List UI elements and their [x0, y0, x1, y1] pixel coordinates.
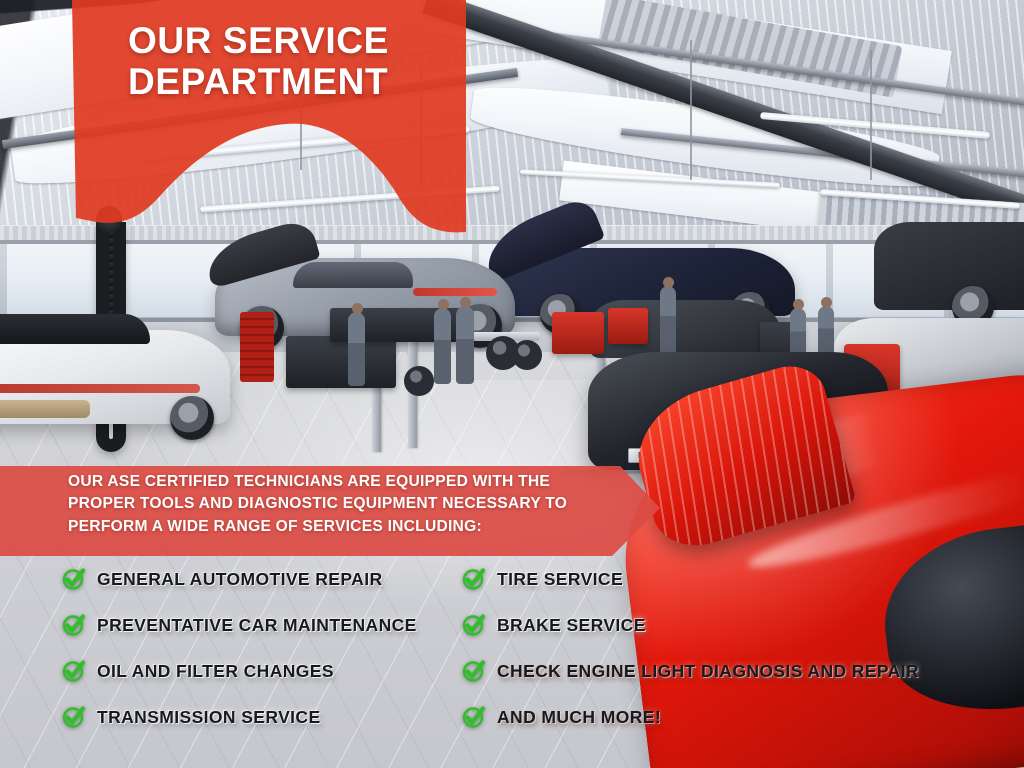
title-line-2: DEPARTMENT — [128, 61, 488, 102]
green-check-icon — [62, 567, 86, 591]
ceiling-hanger — [690, 40, 692, 180]
tire — [404, 366, 434, 396]
green-check-icon — [462, 659, 486, 683]
service-label: TIRE SERVICE — [497, 569, 623, 590]
technician — [456, 306, 474, 384]
service-item[interactable]: AND MUCH MORE! — [462, 694, 1002, 740]
service-label: OIL AND FILTER CHANGES — [97, 661, 334, 682]
hose-reel — [96, 206, 122, 232]
service-label: AND MUCH MORE! — [497, 707, 661, 728]
green-check-icon — [62, 659, 86, 683]
banner-description: OUR ASE CERTIFIED TECHNICIANS ARE EQUIPP… — [68, 471, 608, 538]
technician — [660, 286, 676, 358]
service-item[interactable]: BRAKE SERVICE — [462, 602, 1002, 648]
service-item[interactable]: CHECK ENGINE LIGHT DIAGNOSIS AND REPAIR — [462, 648, 1002, 694]
banner-line-2: PROPER TOOLS AND DIAGNOSTIC EQUIPMENT NE… — [68, 493, 608, 515]
dark-vehicle-right — [874, 222, 1024, 310]
red-tool-chest — [608, 308, 648, 344]
service-label: BRAKE SERVICE — [497, 615, 646, 636]
red-tool-chest — [552, 312, 604, 354]
taillight — [413, 288, 497, 296]
service-label: TRANSMISSION SERVICE — [97, 707, 321, 728]
service-item[interactable]: GENERAL AUTOMOTIVE REPAIR — [62, 556, 482, 602]
service-item[interactable]: TRANSMISSION SERVICE — [62, 694, 482, 740]
banner-line-3: PERFORM A WIDE RANGE OF SERVICES INCLUDI… — [68, 516, 608, 538]
technician — [348, 312, 365, 386]
service-label: GENERAL AUTOMOTIVE REPAIR — [97, 569, 383, 590]
service-label: CHECK ENGINE LIGHT DIAGNOSIS AND REPAIR — [497, 661, 919, 682]
services-left-column: GENERAL AUTOMOTIVE REPAIR PREVENTATIVE C… — [62, 556, 482, 740]
rear-deck — [0, 314, 150, 344]
green-check-icon — [462, 567, 486, 591]
banner-line-1: OUR ASE CERTIFIED TECHNICIANS ARE EQUIPP… — [68, 471, 608, 493]
wheel — [170, 396, 214, 440]
red-tool-cabinet — [240, 312, 274, 382]
green-check-icon — [462, 613, 486, 637]
taillight-bar — [0, 384, 200, 393]
ceiling-hanger — [870, 50, 872, 180]
service-item[interactable]: TIRE SERVICE — [462, 556, 1002, 602]
page-title: OUR SERVICE DEPARTMENT — [128, 20, 488, 103]
title-line-1: OUR SERVICE — [128, 20, 488, 61]
services-right-column: TIRE SERVICE BRAKE SERVICE — [462, 556, 1002, 740]
service-item[interactable]: OIL AND FILTER CHANGES — [62, 648, 482, 694]
service-item[interactable]: PREVENTATIVE CAR MAINTENANCE — [62, 602, 482, 648]
service-department-poster: E3 20 UAJ OUR SERVICE DEPARTMENT OUR ASE… — [0, 0, 1024, 768]
green-check-icon — [462, 705, 486, 729]
tire — [512, 340, 542, 370]
green-check-icon — [62, 613, 86, 637]
windshield — [293, 262, 413, 288]
services-checklist: GENERAL AUTOMOTIVE REPAIR PREVENTATIVE C… — [0, 556, 1024, 742]
green-check-icon — [62, 705, 86, 729]
technician — [434, 308, 451, 384]
service-label: PREVENTATIVE CAR MAINTENANCE — [97, 615, 417, 636]
workbench-cabinet — [286, 336, 396, 388]
bumper — [0, 400, 90, 418]
light-fixture — [200, 186, 500, 213]
